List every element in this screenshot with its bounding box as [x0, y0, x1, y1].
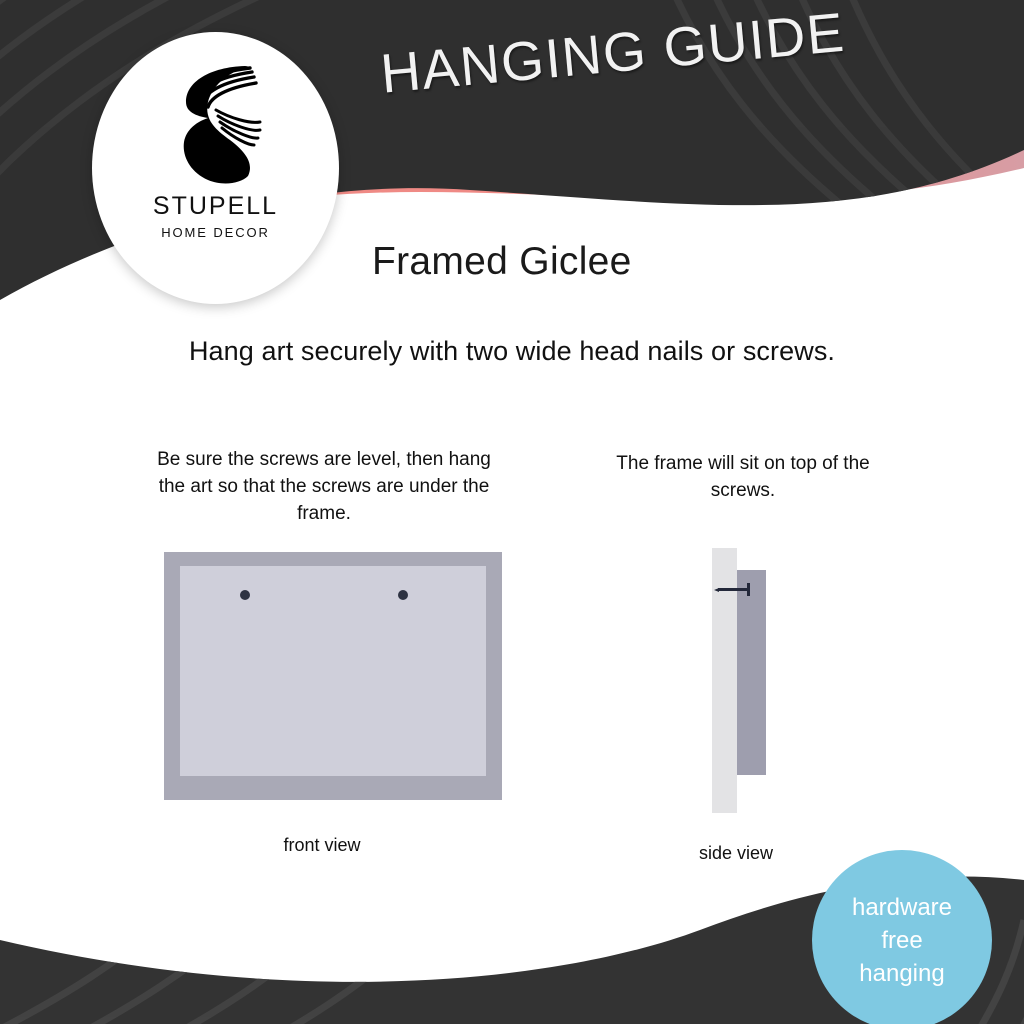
brand-wordmark: STUPELL [153, 192, 278, 221]
front-view-label: front view [164, 835, 480, 856]
brand-logo-badge: STUPELL HOME DECOR [92, 32, 339, 304]
product-type-label: Framed Giclee [372, 240, 632, 284]
front-view-diagram [164, 552, 502, 800]
front-view-caption: Be sure the screws are level, then hang … [146, 446, 502, 527]
side-view-caption: The frame will sit on top of the screws. [596, 450, 890, 504]
badge-line-3: hanging [859, 957, 944, 990]
nail-head-icon [747, 583, 750, 596]
hardware-free-hanging-badge: hardware free hanging [812, 850, 992, 1024]
side-view-frame [737, 570, 766, 775]
hanging-guide-page: STUPELL HOME DECOR HANGING GUIDE Framed … [0, 0, 1024, 1024]
front-view-mat [180, 566, 486, 776]
main-instruction-text: Hang art securely with two wide head nai… [0, 336, 1024, 367]
screw-dot-left-icon [240, 590, 250, 600]
stupell-s-swoosh-logo-icon [156, 58, 276, 186]
badge-line-1: hardware [852, 891, 952, 924]
nail-shaft-icon [718, 588, 750, 591]
screw-dot-right-icon [398, 590, 408, 600]
page-title: HANGING GUIDE [378, 0, 848, 106]
badge-line-2: free [881, 924, 922, 957]
side-view-label: side view [638, 843, 834, 864]
brand-tagline: HOME DECOR [161, 225, 270, 240]
